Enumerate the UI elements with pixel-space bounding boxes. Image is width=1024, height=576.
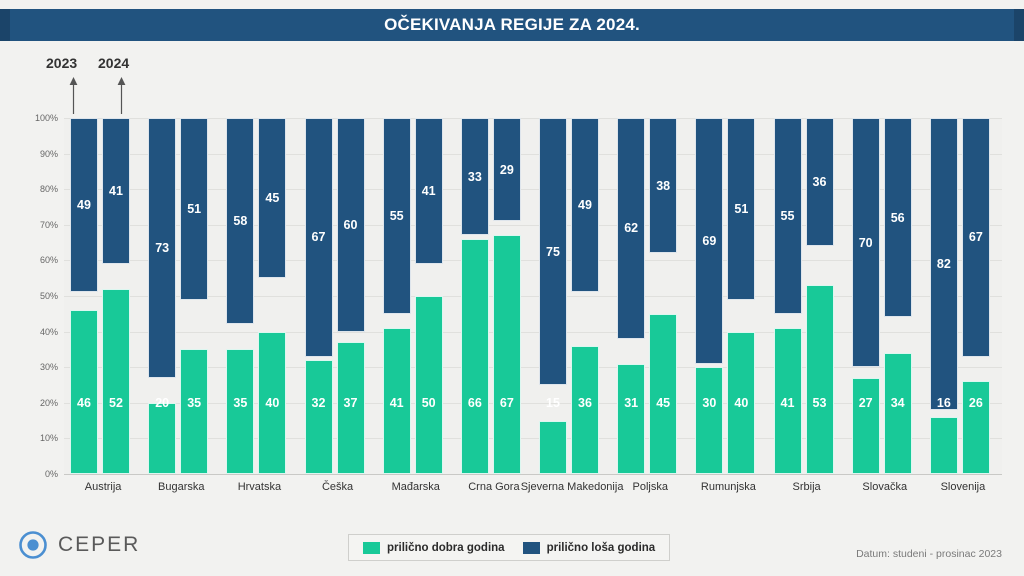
legend-item[interactable]: prilično dobra godina — [363, 542, 505, 554]
legend-swatch — [523, 542, 540, 554]
bar-negative[interactable]: 51 — [180, 118, 208, 300]
bar-value-label: 51 — [728, 203, 754, 216]
x-axis-tick-label: Slovenija — [903, 480, 1023, 494]
bar-positive[interactable]: 53 — [806, 285, 834, 474]
bar-positive[interactable]: 35 — [180, 349, 208, 474]
target-circle-icon — [18, 530, 48, 560]
bar-negative[interactable]: 41 — [415, 118, 443, 264]
bar-negative[interactable]: 49 — [70, 118, 98, 292]
bar-value-label: 55 — [384, 210, 410, 223]
legend-swatch — [363, 542, 380, 554]
bar-value-label: 46 — [71, 397, 97, 410]
bar-value-label: 41 — [416, 185, 442, 198]
bar-positive[interactable]: 50 — [415, 296, 443, 474]
bar-positive[interactable]: 41 — [774, 328, 802, 474]
bar-positive[interactable]: 16 — [930, 417, 958, 474]
bar-pair-2023: 6732 — [305, 118, 333, 474]
bar-negative[interactable]: 56 — [884, 118, 912, 317]
bar-value-label: 31 — [618, 397, 644, 410]
y-axis-tick-label: 30% — [18, 362, 58, 372]
bar-group: 55414150 — [377, 118, 455, 474]
bar-pair-2024: 6037 — [337, 118, 365, 474]
bar-positive[interactable]: 20 — [148, 403, 176, 474]
bar-value-label: 34 — [885, 397, 911, 410]
legend-label: prilično dobra godina — [387, 542, 505, 554]
y-axis-tick-label: 0% — [18, 469, 58, 479]
gridline — [64, 474, 1002, 475]
brand-logo: CEPER — [18, 530, 140, 560]
bar-positive[interactable]: 27 — [852, 378, 880, 474]
bar-value-label: 40 — [259, 397, 285, 410]
bar-value-label: 32 — [306, 397, 332, 410]
bar-negative[interactable]: 38 — [649, 118, 677, 253]
bar-pair-2024: 3653 — [806, 118, 834, 474]
bar-group: 67326037 — [299, 118, 377, 474]
y-axis-tick-label: 100% — [18, 113, 58, 123]
bar-negative[interactable]: 55 — [383, 118, 411, 314]
bar-value-label: 70 — [853, 237, 879, 250]
page-title: OČEKIVANJA REGIJE ZA 2024. — [384, 15, 640, 35]
bar-positive[interactable]: 40 — [727, 332, 755, 474]
bar-pair-2023: 6231 — [617, 118, 645, 474]
bar-group: 73205135 — [142, 118, 220, 474]
bar-pair-2023: 6930 — [695, 118, 723, 474]
bar-value-label: 67 — [306, 231, 332, 244]
bar-pair-2023: 5541 — [383, 118, 411, 474]
bar-positive[interactable]: 34 — [884, 353, 912, 474]
bar-pair-2023: 5541 — [774, 118, 802, 474]
chart-canvas: 100%90%80%70%60%50%40%30%20%10%0% 494641… — [0, 0, 1024, 525]
bar-negative[interactable]: 45 — [258, 118, 286, 278]
bar-value-label: 35 — [181, 397, 207, 410]
bar-group: 70275634 — [846, 118, 924, 474]
bar-negative[interactable]: 49 — [571, 118, 599, 292]
bar-group: 82166726 — [924, 118, 1002, 474]
bar-pair-2024: 5634 — [884, 118, 912, 474]
bar-negative[interactable]: 51 — [727, 118, 755, 300]
bar-pair-2023: 8216 — [930, 118, 958, 474]
bar-value-label: 36 — [807, 176, 833, 189]
y-axis-tick-label: 50% — [18, 291, 58, 301]
bar-negative[interactable]: 73 — [148, 118, 176, 378]
bar-negative[interactable]: 75 — [539, 118, 567, 385]
chart-legend: prilično dobra godinaprilično loša godin… — [348, 534, 670, 561]
y-axis-tick-label: 60% — [18, 255, 58, 265]
plot-area: 49464152Austrija73205135Bugarska58354540… — [64, 118, 1002, 474]
bar-group: 49464152 — [64, 118, 142, 474]
y-axis-tick-label: 90% — [18, 149, 58, 159]
bar-value-label: 45 — [650, 397, 676, 410]
bar-positive[interactable]: 41 — [383, 328, 411, 474]
bar-negative[interactable]: 29 — [493, 118, 521, 221]
bar-pair-2023: 7027 — [852, 118, 880, 474]
bar-positive[interactable]: 67 — [493, 235, 521, 474]
bar-value-label: 15 — [540, 397, 566, 410]
bar-negative[interactable]: 67 — [305, 118, 333, 357]
bar-negative[interactable]: 33 — [461, 118, 489, 235]
bar-value-label: 41 — [775, 397, 801, 410]
bar-value-label: 45 — [259, 192, 285, 205]
bar-value-label: 16 — [931, 397, 957, 410]
bar-value-label: 62 — [618, 222, 644, 235]
bar-value-label: 69 — [696, 235, 722, 248]
bar-value-label: 67 — [963, 231, 989, 244]
bar-value-label: 29 — [494, 164, 520, 177]
bar-value-label: 67 — [494, 397, 520, 410]
bar-positive[interactable]: 15 — [539, 421, 567, 474]
bar-negative[interactable]: 67 — [962, 118, 990, 357]
bar-value-label: 73 — [149, 242, 175, 255]
bar-group: 33662967 — [455, 118, 533, 474]
bar-positive[interactable]: 46 — [70, 310, 98, 474]
bar-negative[interactable]: 70 — [852, 118, 880, 367]
bar-value-label: 27 — [853, 397, 879, 410]
bar-pair-2024: 4152 — [102, 118, 130, 474]
bar-pair-2024: 5140 — [727, 118, 755, 474]
y-axis-tick-label: 40% — [18, 327, 58, 337]
bar-negative[interactable]: 41 — [102, 118, 130, 264]
bar-group: 55413653 — [768, 118, 846, 474]
bar-pair-2023: 7515 — [539, 118, 567, 474]
bar-positive[interactable]: 26 — [962, 381, 990, 474]
bar-value-label: 49 — [71, 199, 97, 212]
bar-positive[interactable]: 66 — [461, 239, 489, 474]
bar-negative[interactable]: 82 — [930, 118, 958, 410]
bar-negative[interactable]: 60 — [337, 118, 365, 332]
legend-label: prilično loša godina — [547, 542, 656, 554]
bar-value-label: 37 — [338, 397, 364, 410]
bar-value-label: 51 — [181, 203, 207, 216]
bar-value-label: 35 — [227, 397, 253, 410]
bar-pair-2023: 3366 — [461, 118, 489, 474]
bar-pair-2023: 5835 — [226, 118, 254, 474]
bar-value-label: 82 — [931, 258, 957, 271]
bar-positive[interactable]: 30 — [695, 367, 723, 474]
bar-value-label: 60 — [338, 219, 364, 232]
bar-group: 75154936 — [533, 118, 611, 474]
bar-value-label: 30 — [696, 397, 722, 410]
bar-pair-2024: 3845 — [649, 118, 677, 474]
bar-group: 62313845 — [611, 118, 689, 474]
bar-value-label: 52 — [103, 397, 129, 410]
bar-positive[interactable]: 36 — [571, 346, 599, 474]
bar-positive[interactable]: 37 — [337, 342, 365, 474]
bar-group: 69305140 — [689, 118, 767, 474]
y-axis-tick-label: 80% — [18, 184, 58, 194]
y-axis-tick-label: 10% — [18, 433, 58, 443]
bar-value-label: 40 — [728, 397, 754, 410]
legend-item[interactable]: prilično loša godina — [523, 542, 656, 554]
bar-negative[interactable]: 58 — [226, 118, 254, 324]
bar-pair-2024: 4936 — [571, 118, 599, 474]
bar-value-label: 36 — [572, 397, 598, 410]
bar-value-label: 50 — [416, 397, 442, 410]
bar-value-label: 49 — [572, 199, 598, 212]
bar-value-label: 20 — [149, 397, 175, 410]
brand-name: CEPER — [58, 533, 140, 557]
bar-positive[interactable]: 31 — [617, 364, 645, 474]
bar-pair-2024: 4150 — [415, 118, 443, 474]
bar-value-label: 66 — [462, 397, 488, 410]
bar-negative[interactable]: 62 — [617, 118, 645, 339]
bar-value-label: 33 — [462, 171, 488, 184]
bar-positive[interactable]: 35 — [226, 349, 254, 474]
bar-value-label: 75 — [540, 246, 566, 259]
y-axis-tick-label: 70% — [18, 220, 58, 230]
date-note: Datum: studeni - prosinac 2023 — [856, 548, 1002, 560]
bar-value-label: 26 — [963, 397, 989, 410]
bar-pair-2024: 5135 — [180, 118, 208, 474]
bar-value-label: 56 — [885, 212, 911, 225]
bar-value-label: 38 — [650, 180, 676, 193]
bar-group: 58354540 — [220, 118, 298, 474]
bar-value-label: 55 — [775, 210, 801, 223]
bar-pair-2023: 4946 — [70, 118, 98, 474]
bar-negative[interactable]: 69 — [695, 118, 723, 364]
bar-value-label: 41 — [384, 397, 410, 410]
bar-value-label: 41 — [103, 185, 129, 198]
y-axis-tick-label: 20% — [18, 398, 58, 408]
bar-pair-2024: 2967 — [493, 118, 521, 474]
bar-pair-2023: 7320 — [148, 118, 176, 474]
bar-positive[interactable]: 52 — [102, 289, 130, 474]
bar-positive[interactable]: 40 — [258, 332, 286, 474]
bar-value-label: 58 — [227, 215, 253, 228]
bar-positive[interactable]: 32 — [305, 360, 333, 474]
bar-negative[interactable]: 55 — [774, 118, 802, 314]
bar-pair-2024: 4540 — [258, 118, 286, 474]
bar-positive[interactable]: 45 — [649, 314, 677, 474]
bar-pair-2024: 6726 — [962, 118, 990, 474]
bar-value-label: 53 — [807, 397, 833, 410]
bar-negative[interactable]: 36 — [806, 118, 834, 246]
